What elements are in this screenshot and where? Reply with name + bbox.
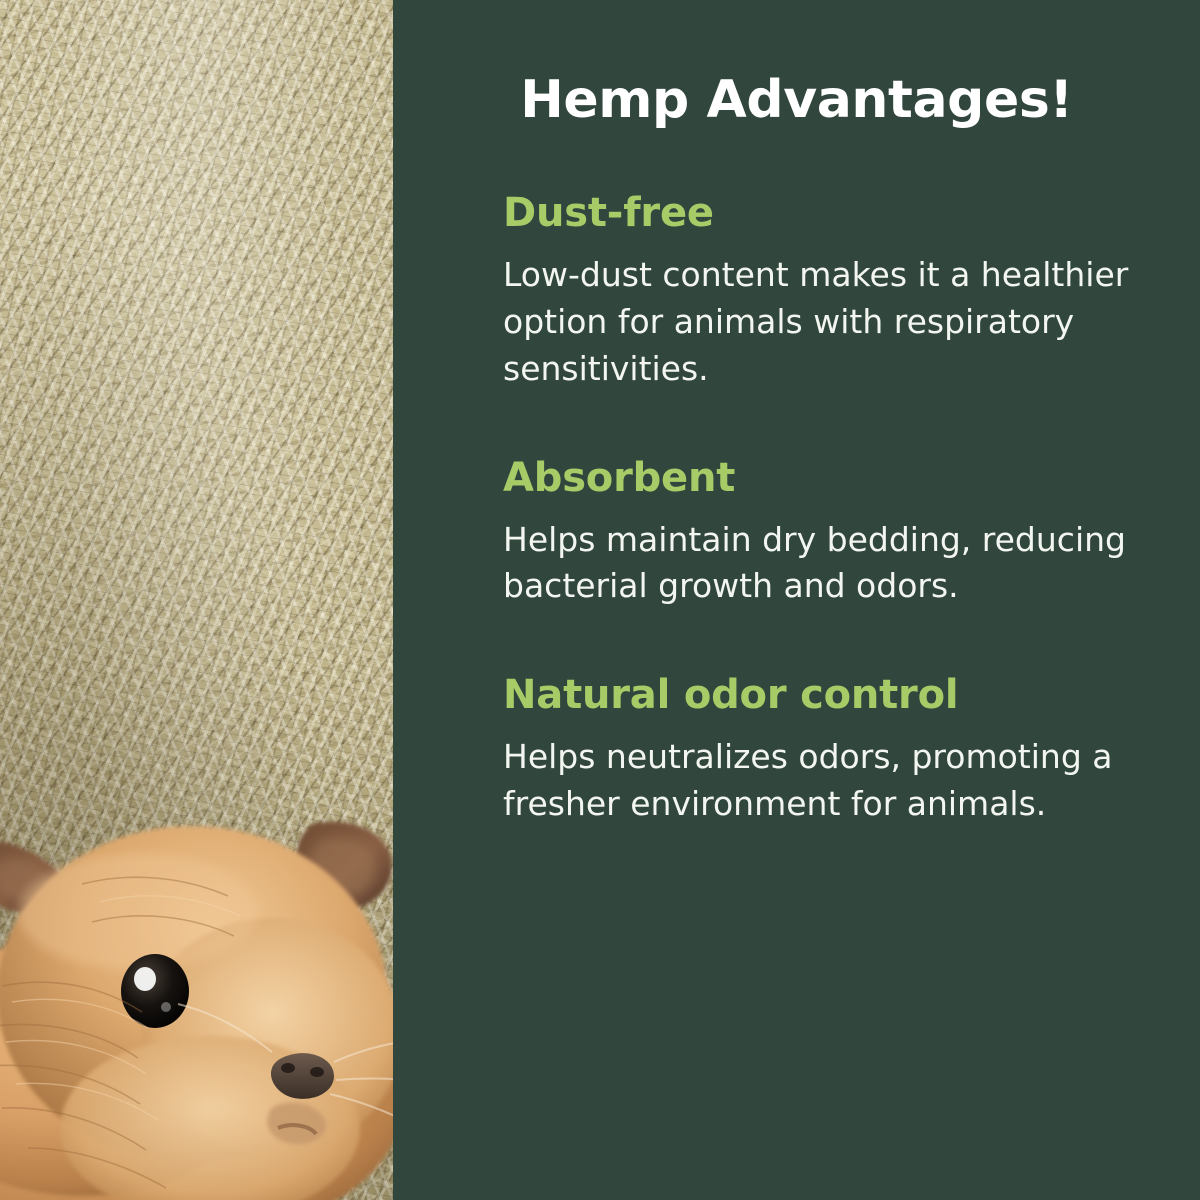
feature-item-dust-free: Dust-free Low-dust content makes it a he…: [503, 192, 1163, 393]
hemp-shading-overlay: [0, 0, 393, 1200]
feature-item-absorbent: Absorbent Helps maintain dry bedding, re…: [503, 457, 1163, 611]
feature-description-absorbent: Helps maintain dry bedding, reducing bac…: [503, 517, 1143, 611]
feature-title-dust-free: Dust-free: [503, 192, 1163, 234]
page-title: Hemp Advantages!: [393, 70, 1200, 130]
feature-item-odor-control: Natural odor control Helps neutralizes o…: [503, 674, 1163, 828]
feature-title-absorbent: Absorbent: [503, 457, 1163, 499]
features-panel: Hemp Advantages! Dust-free Low-dust cont…: [393, 0, 1200, 1200]
feature-title-odor-control: Natural odor control: [503, 674, 1163, 716]
product-infographic: Hemp Advantages! Dust-free Low-dust cont…: [0, 0, 1200, 1200]
feature-description-dust-free: Low-dust content makes it a healthier op…: [503, 252, 1143, 393]
feature-description-odor-control: Helps neutralizes odors, promoting a fre…: [503, 734, 1143, 828]
feature-list: Dust-free Low-dust content makes it a he…: [503, 192, 1163, 828]
hemp-bedding-photo: [0, 0, 393, 1200]
